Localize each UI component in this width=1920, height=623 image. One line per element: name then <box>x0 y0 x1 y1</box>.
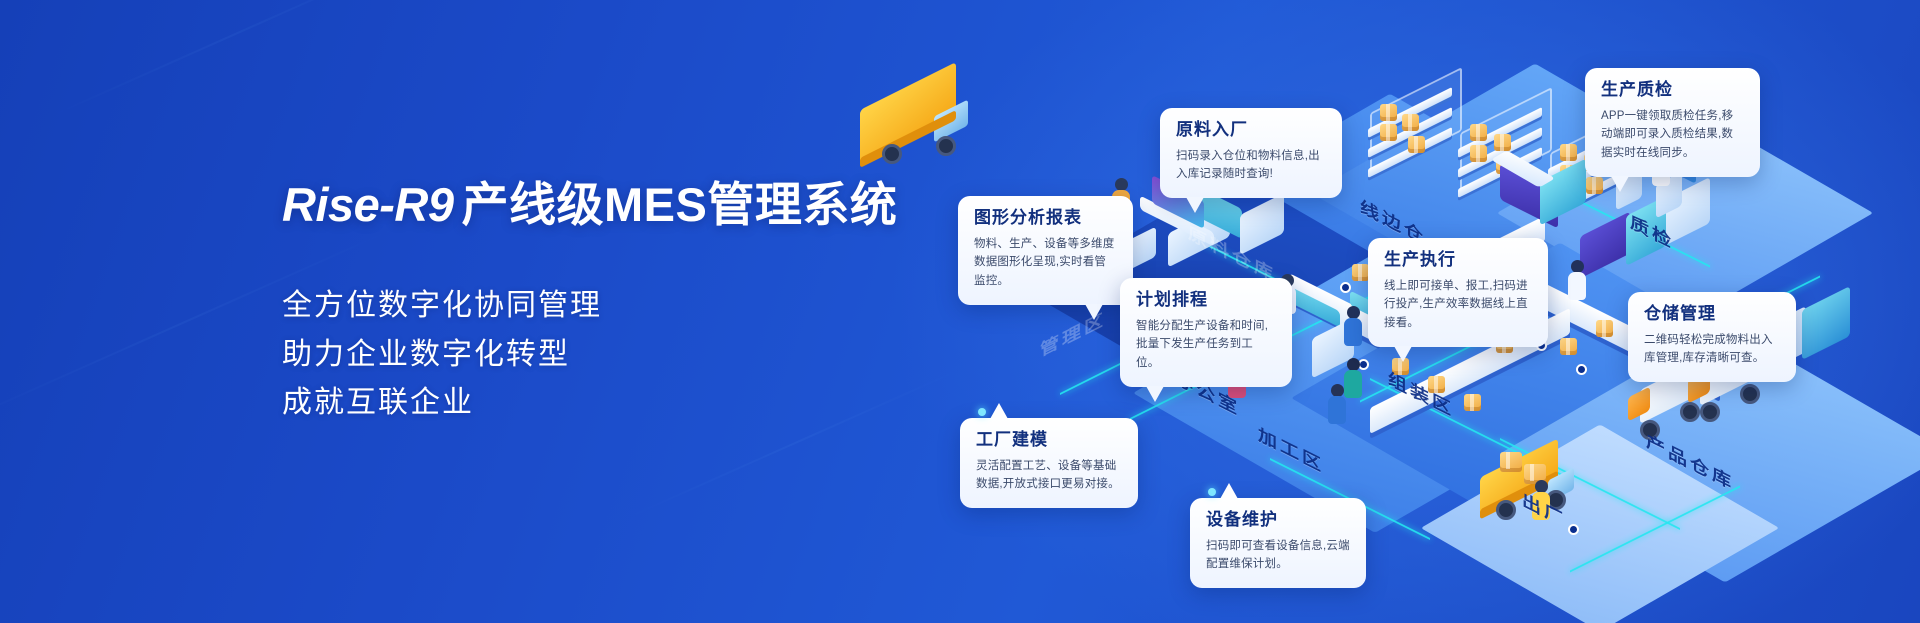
card-title-quality-inspection: 生产质检 <box>1601 81 1744 100</box>
card-desc-production-execution: 线上即可接单、报工,扫码进行投产,生产效率数据线上直接看。 <box>1384 277 1532 333</box>
headline-rest: 产线级MES管理系统 <box>462 178 898 231</box>
callout-card-equipment-maintenance[interactable]: 设备维护 扫码即可查看设备信息,云端配置维保计划。 <box>1190 498 1366 588</box>
card-tail-icon <box>1146 386 1164 402</box>
card-tail-icon <box>990 403 1008 419</box>
card-tail-icon <box>1611 176 1629 192</box>
callout-card-graphic-report[interactable]: 图形分析报表 物料、生产、设备等多维度数据图形化呈现,实时看管监控。 <box>958 196 1133 305</box>
card-title-production-execution: 生产执行 <box>1384 251 1532 270</box>
card-title-material-inbound: 原料入厂 <box>1176 121 1326 140</box>
card-title-warehouse-management: 仓储管理 <box>1644 305 1780 324</box>
brand-name: Rise-R9 <box>282 178 454 231</box>
connector-dot-equipment-maintenance <box>1208 488 1216 496</box>
subtitle-line-1: 全方位数字化协同管理 <box>282 282 922 331</box>
page-title: Rise-R9产线级MES管理系统 <box>282 179 922 232</box>
callout-card-quality-inspection[interactable]: 生产质检 APP一键领取质检任务,移动端即可录入质检结果,数据实时在线同步。 <box>1585 68 1760 177</box>
card-desc-equipment-maintenance: 扫码即可查看设备信息,云端配置维保计划。 <box>1206 537 1350 574</box>
card-desc-warehouse-management: 二维码轻松完成物料出入库管理,库存清晰可查。 <box>1644 331 1780 368</box>
card-tail-icon <box>1186 197 1204 213</box>
card-desc-graphic-report: 物料、生产、设备等多维度数据图形化呈现,实时看管监控。 <box>974 235 1117 291</box>
callout-card-plan-schedule[interactable]: 计划排程 智能分配生产设备和时间,批量下发生产任务到工位。 <box>1120 278 1292 387</box>
callout-card-material-inbound[interactable]: 原料入厂 扫码录入仓位和物料信息,出入库记录随时查询! <box>1160 108 1342 198</box>
mes-hero-banner: Rise-R9产线级MES管理系统 全方位数字化协同管理 助力企业数字化转型 成… <box>0 0 1920 623</box>
card-desc-factory-modeling: 灵活配置工艺、设备等基础数据,开放式接口更易对接。 <box>976 457 1122 494</box>
callout-card-factory-modeling[interactable]: 工厂建模 灵活配置工艺、设备等基础数据,开放式接口更易对接。 <box>960 418 1138 508</box>
hero-subtitle: 全方位数字化协同管理 助力企业数字化转型 成就互联企业 <box>282 282 922 428</box>
card-tail-icon <box>1220 483 1238 499</box>
card-title-graphic-report: 图形分析报表 <box>974 209 1117 228</box>
callout-card-warehouse-management[interactable]: 仓储管理 二维码轻松完成物料出入库管理,库存清晰可查。 <box>1628 292 1796 382</box>
card-desc-material-inbound: 扫码录入仓位和物料信息,出入库记录随时查询! <box>1176 147 1326 184</box>
card-tail-icon <box>1394 346 1412 362</box>
card-title-factory-modeling: 工厂建模 <box>976 431 1122 450</box>
connector-dot-factory-modeling <box>978 408 986 416</box>
card-title-plan-schedule: 计划排程 <box>1136 291 1276 310</box>
card-tail-icon <box>1085 304 1103 320</box>
subtitle-line-3: 成就互联企业 <box>282 379 922 428</box>
card-title-equipment-maintenance: 设备维护 <box>1206 511 1350 530</box>
card-desc-quality-inspection: APP一键领取质检任务,移动端即可录入质检结果,数据实时在线同步。 <box>1601 107 1744 163</box>
card-desc-plan-schedule: 智能分配生产设备和时间,批量下发生产任务到工位。 <box>1136 317 1276 373</box>
callout-card-production-execution[interactable]: 生产执行 线上即可接单、报工,扫码进行投产,生产效率数据线上直接看。 <box>1368 238 1548 347</box>
hero-copy: Rise-R9产线级MES管理系统 全方位数字化协同管理 助力企业数字化转型 成… <box>282 148 922 428</box>
subtitle-line-2: 助力企业数字化转型 <box>282 331 922 380</box>
